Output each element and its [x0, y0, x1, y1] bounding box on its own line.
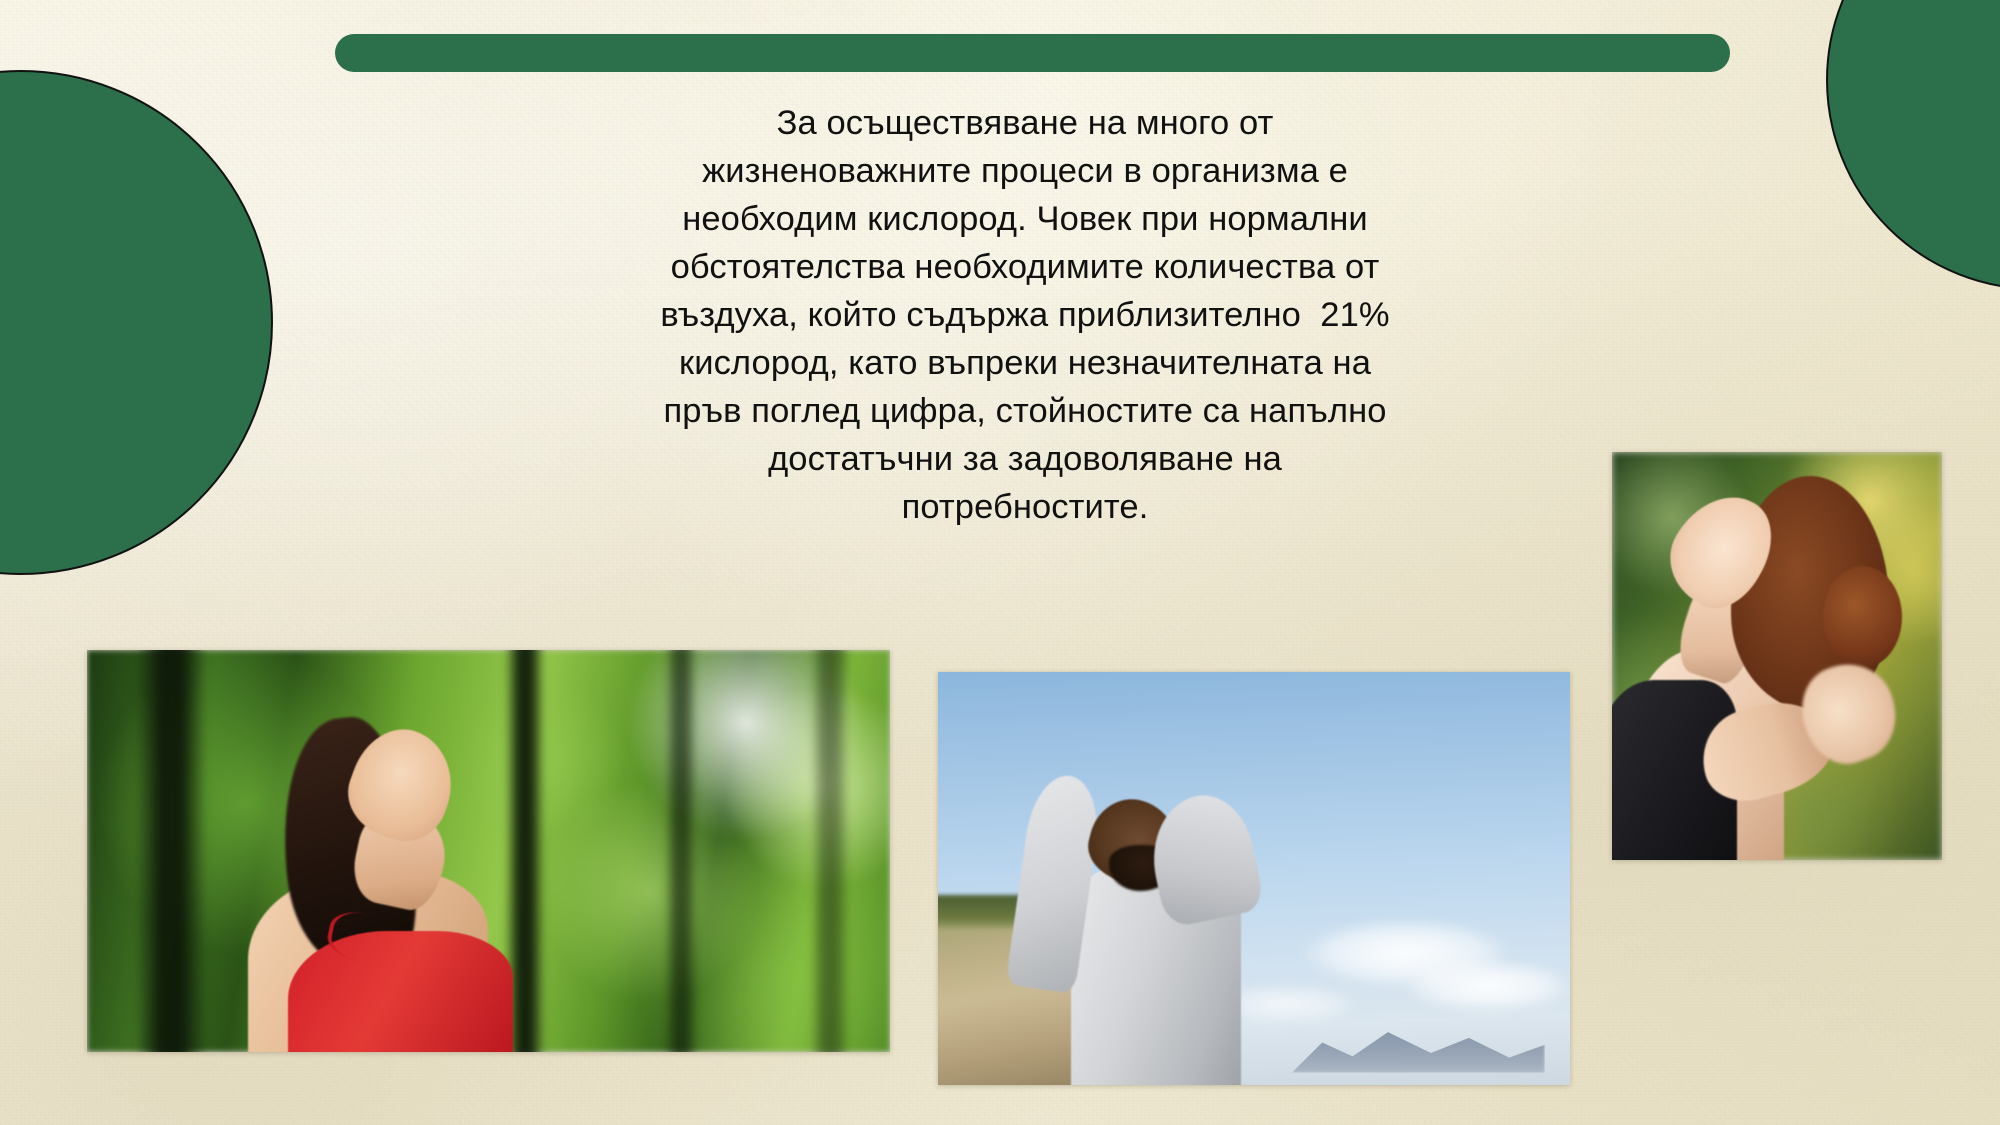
- tree-trunk: [135, 650, 207, 1052]
- forest-woman-photo: [87, 650, 890, 1052]
- slide-body-paragraph: За осъществяване на много от жизненоважн…: [640, 100, 1410, 532]
- left-green-circle: [0, 70, 273, 575]
- sky-man-scene: [938, 672, 1570, 1085]
- bokeh-woman-scene: [1612, 452, 1942, 860]
- tree-trunk: [665, 650, 697, 1052]
- forest-woman-scene: [87, 650, 890, 1052]
- woman-hair-bun: [1823, 566, 1902, 668]
- presentation-slide: За осъществяване на много от жизненоважн…: [0, 0, 2000, 1125]
- top-accent-bar: [335, 34, 1730, 72]
- top-right-green-circle: [1826, 0, 2000, 290]
- cloud: [1406, 961, 1570, 1011]
- bokeh-woman-photo: [1612, 452, 1942, 860]
- sky-man-photo: [938, 672, 1570, 1085]
- tree-trunk: [810, 650, 850, 1052]
